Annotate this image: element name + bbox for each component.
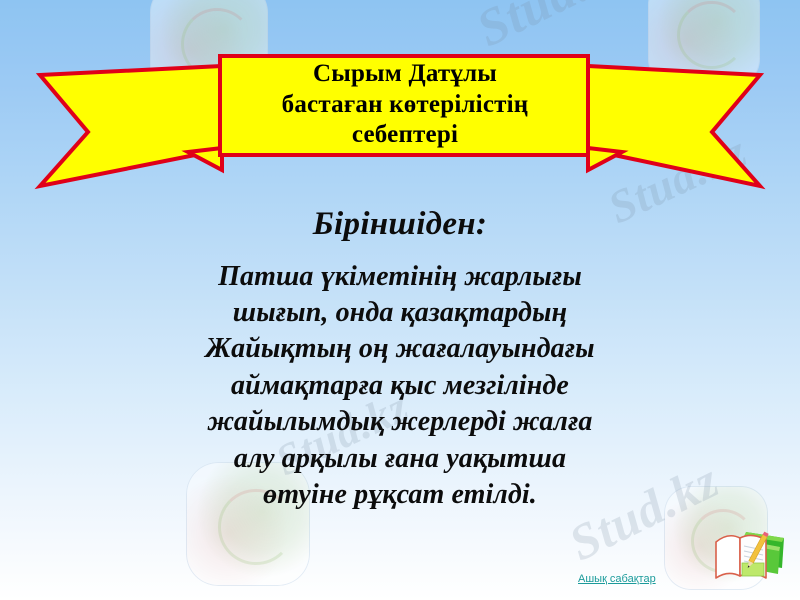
body-paragraph: Патша үкіметінің жарлығы шығып, онда қаз…: [40, 259, 760, 514]
paragraph-line: алу арқылы ғана уақытша: [40, 441, 760, 477]
body-text-block: Біріншіден: Патша үкіметінің жарлығы шығ…: [40, 205, 760, 513]
ribbon-left-tail: [40, 66, 222, 186]
ribbon-right-tail: [588, 66, 760, 186]
paragraph-line: Патша үкіметінің жарлығы: [40, 259, 760, 295]
open-book-icon: [694, 516, 790, 588]
paragraph-line: өтуіне рұқсат етілді.: [40, 477, 760, 513]
paragraph-line: жайылымдық жерлерді жалға: [40, 404, 760, 440]
open-lessons-link[interactable]: Ашық сабақтар: [578, 573, 656, 585]
ribbon-left-fold: [188, 148, 222, 170]
subheading: Біріншіден:: [40, 205, 760, 245]
ribbon-center-panel: [220, 56, 588, 155]
paragraph-line: Жайықтың оң жағалауындағы: [40, 331, 760, 367]
paragraph-line: аймақтарға қыс мезгілінде: [40, 368, 760, 404]
paragraph-line: шығып, онда қазақтардың: [40, 295, 760, 331]
ribbon-right-fold: [588, 148, 622, 170]
slide-canvas: Stud.kzStud.kzStud.kzStud.kzStud.kz Сыры…: [0, 0, 800, 600]
ribbon-banner: [0, 0, 800, 210]
